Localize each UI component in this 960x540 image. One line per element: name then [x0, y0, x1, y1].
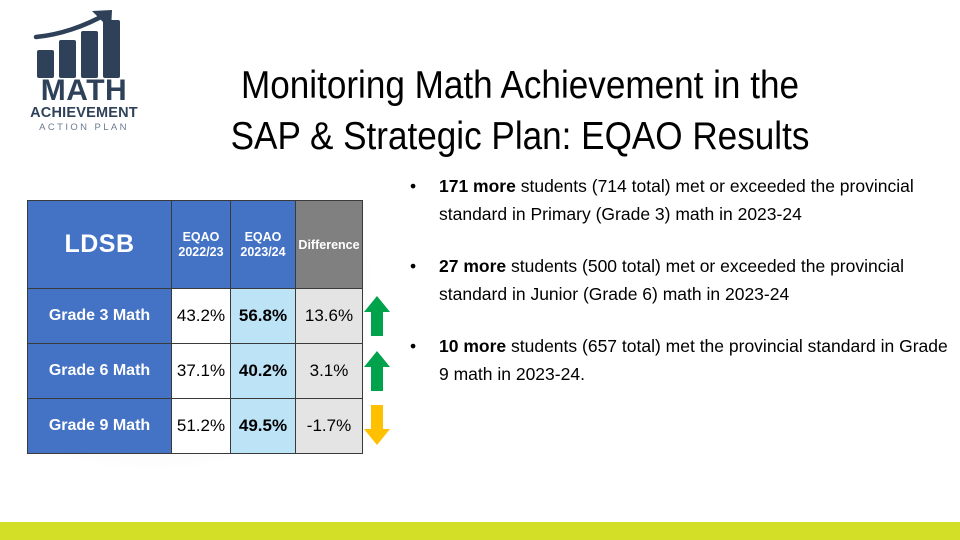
cell-grade-3-prev: 43.2%	[172, 289, 231, 344]
bullet-3-rest: students (657 total) met the provincial …	[439, 336, 948, 384]
bullet-2-emphasis: 27 more	[439, 256, 506, 276]
arrow-up-icon	[363, 295, 391, 337]
eqao-results-table: LDSB EQAO 2022/23 EQAO 2023/24 Differenc…	[27, 200, 363, 454]
page-title: Monitoring Math Achievement in the SAP &…	[160, 60, 880, 162]
list-item: • 27 more students (500 total) met or ex…	[404, 253, 952, 308]
table-header-ldsb: LDSB	[28, 201, 172, 289]
cell-grade-9-prev: 51.2%	[172, 399, 231, 454]
arrow-up-icon	[363, 350, 391, 392]
table-row: Grade 3 Math 43.2% 56.8% 13.6%	[28, 289, 363, 344]
list-item: • 171 more students (714 total) met or e…	[404, 173, 952, 228]
logo-word-achievement: ACHIEVEMENT	[14, 105, 154, 121]
table-header-eqao-2023-24: EQAO 2023/24	[231, 201, 296, 289]
bullet-1-emphasis: 171 more	[439, 176, 516, 196]
cell-grade-3-curr: 56.8%	[231, 289, 296, 344]
logo-word-math: MATH	[14, 76, 154, 106]
bullet-1-text: 171 more students (714 total) met or exc…	[439, 176, 914, 224]
page-title-line-2: SAP & Strategic Plan: EQAO Results	[196, 111, 844, 162]
bullet-2-rest: students (500 total) met or exceeded the…	[439, 256, 904, 304]
footer-accent-bar	[0, 522, 960, 540]
row-label-grade-9-math: Grade 9 Math	[28, 399, 172, 454]
table-header-eqao-2022-23-line2: 2022/23	[172, 245, 230, 260]
summary-bullet-list: • 171 more students (714 total) met or e…	[404, 173, 952, 413]
cell-grade-9-difference: -1.7%	[296, 399, 363, 454]
row-label-grade-3-math: Grade 3 Math	[28, 289, 172, 344]
cell-grade-9-curr: 49.5%	[231, 399, 296, 454]
bullet-3-text: 10 more students (657 total) met the pro…	[439, 336, 948, 384]
bullet-2-text: 27 more students (500 total) met or exce…	[439, 256, 904, 304]
table-header-eqao-2022-23-line1: EQAO	[172, 230, 230, 245]
bullet-marker-icon: •	[410, 173, 416, 201]
table-header-eqao-2022-23: EQAO 2022/23	[172, 201, 231, 289]
table-header-eqao-2023-24-line1: EQAO	[231, 230, 295, 245]
row-label-grade-6-math: Grade 6 Math	[28, 344, 172, 399]
bullet-marker-icon: •	[410, 333, 416, 361]
page-title-line-1: Monitoring Math Achievement in the	[196, 60, 844, 111]
bullet-3-emphasis: 10 more	[439, 336, 506, 356]
table-header-eqao-2023-24-line2: 2023/24	[231, 245, 295, 260]
list-item: • 10 more students (657 total) met the p…	[404, 333, 952, 388]
table-row: Grade 9 Math 51.2% 49.5% -1.7%	[28, 399, 363, 454]
bullet-marker-icon: •	[410, 253, 416, 281]
cell-grade-6-prev: 37.1%	[172, 344, 231, 399]
table-header-difference: Difference	[296, 201, 363, 289]
cell-grade-6-difference: 3.1%	[296, 344, 363, 399]
arrow-down-icon	[363, 404, 391, 446]
math-achievement-action-plan-logo: MATH ACHIEVEMENT ACTION PLAN	[14, 6, 154, 136]
logo-word-action-plan: ACTION PLAN	[14, 122, 154, 134]
table-row: Grade 6 Math 37.1% 40.2% 3.1%	[28, 344, 363, 399]
eqao-results-table-container: LDSB EQAO 2022/23 EQAO 2023/24 Differenc…	[27, 200, 358, 452]
cell-grade-6-curr: 40.2%	[231, 344, 296, 399]
bar-chart-growth-arrow-icon	[32, 8, 136, 80]
table-header-row: LDSB EQAO 2022/23 EQAO 2023/24 Differenc…	[28, 201, 363, 289]
cell-grade-3-difference: 13.6%	[296, 289, 363, 344]
